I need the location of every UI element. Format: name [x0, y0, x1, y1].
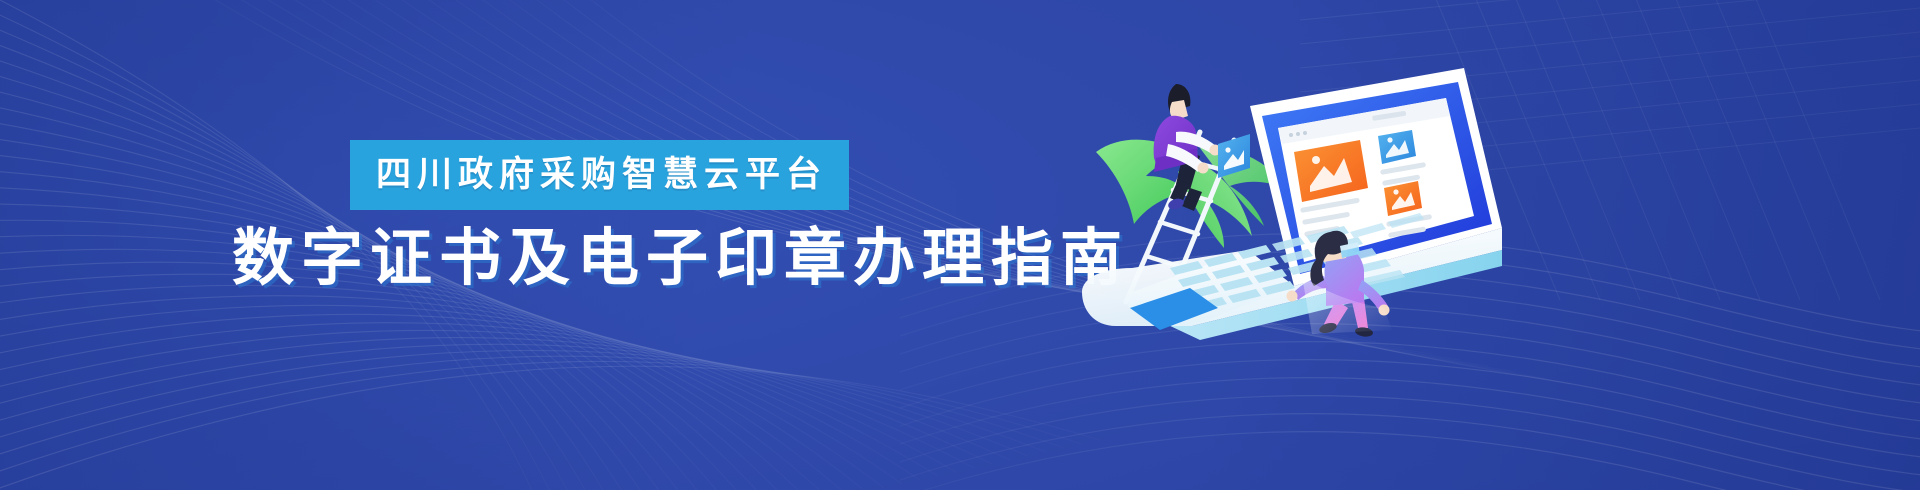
- banner-root: 四川政府采购智慧云平台 数字证书及电子印章办理指南: [0, 0, 1920, 490]
- laptop-workspace-illustration: [1072, 40, 1502, 340]
- banner-text-block: 四川政府采购智慧云平台 数字证书及电子印章办理指南: [232, 140, 992, 290]
- banner-title: 数字证书及电子印章办理指南: [232, 228, 992, 290]
- illustration-svg: [1072, 40, 1502, 340]
- platform-badge: 四川政府采购智慧云平台: [350, 140, 849, 210]
